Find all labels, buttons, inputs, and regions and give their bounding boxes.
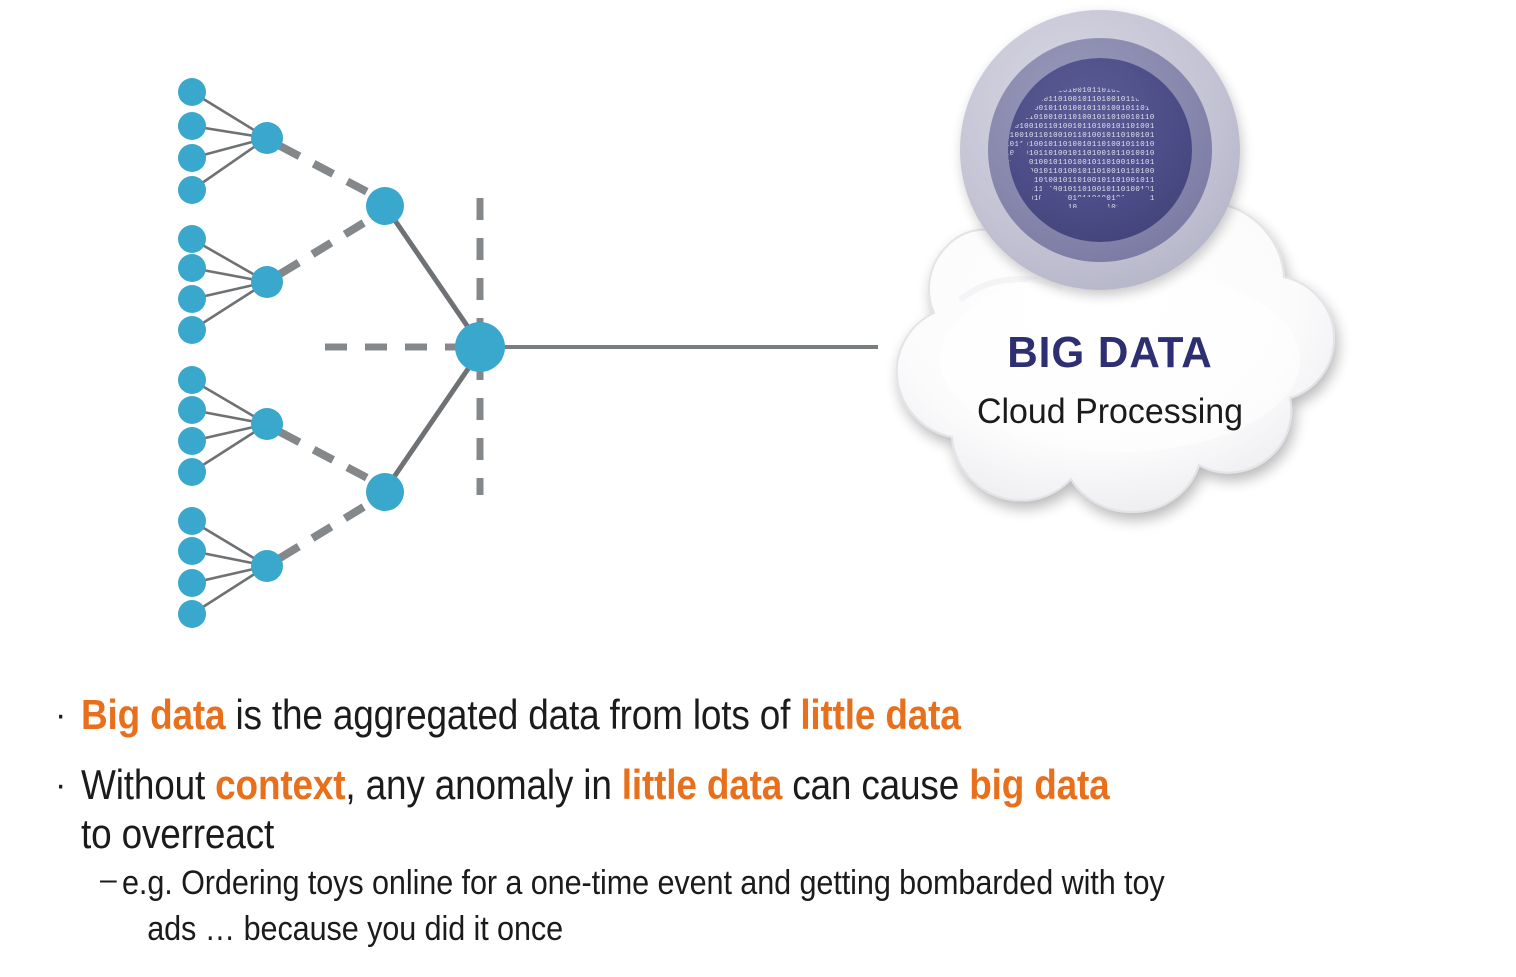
highlight-little-data: little data <box>800 691 960 738</box>
bullet-marker: · <box>55 760 81 808</box>
binary-elephant-icon: 01001010110010100101101001011010 1011010… <box>960 10 1240 290</box>
bullet-2-seg-without: Without <box>81 761 215 808</box>
leaf-node <box>178 396 206 424</box>
hub-node <box>455 322 505 372</box>
bullet-marker: · <box>55 690 81 738</box>
leaf-nodes <box>178 78 206 628</box>
leaf-node <box>178 112 206 140</box>
cloud-subtitle: Cloud Processing <box>906 392 1313 432</box>
bullet-2-seg-cause: can cause <box>782 761 969 808</box>
level2-node <box>251 122 283 154</box>
sub-bullet-line-2: ads … because you did it once <box>122 906 1165 952</box>
highlight-big-data: Big data <box>81 691 225 738</box>
bullet-2-text: Without context, any anomaly in little d… <box>81 760 1110 858</box>
leaf-node <box>178 427 206 455</box>
sub-bullet-text: e.g. Ordering toys online for a one-time… <box>122 860 1165 952</box>
leaf-node <box>178 78 206 106</box>
cloud-title: BIG DATA <box>908 328 1311 378</box>
bullet-item-1: · Big data is the aggregated data from l… <box>55 690 1081 739</box>
sub-bullet-item: – e.g. Ordering toys online for a one-ti… <box>100 860 1280 952</box>
leaf-node <box>178 366 206 394</box>
level3-node <box>366 187 404 225</box>
svg-text:011010010110100101101001011010: 01101001011010010110100101101001 <box>1000 123 1155 131</box>
diagram-illustration: 01001010110010100101101001011010 1011010… <box>0 0 1516 670</box>
leaf-node <box>178 316 206 344</box>
sub-bullet-marker: – <box>100 860 122 900</box>
bullet-item-2: · Without context, any anomaly in little… <box>55 760 1250 858</box>
leaf-node <box>178 569 206 597</box>
leaf-node <box>178 285 206 313</box>
leaf-node <box>178 254 206 282</box>
bullet-1-mid: is the aggregated data from lots of <box>225 691 800 738</box>
leaf-node <box>178 225 206 253</box>
highlight-big-data-2: big data <box>969 761 1109 808</box>
level2-node <box>251 266 283 298</box>
leaf-node <box>178 144 206 172</box>
level3-node <box>366 473 404 511</box>
sub-bullet-line-1: e.g. Ordering toys online for a one-time… <box>122 864 1165 902</box>
bullet-1-text: Big data is the aggregated data from lot… <box>81 690 961 739</box>
level2-node <box>251 550 283 582</box>
level2-nodes <box>251 122 283 582</box>
bullet-2-seg-anomaly: , any anomaly in <box>345 761 621 808</box>
highlight-little-data-2: little data <box>622 761 782 808</box>
leaf-node <box>178 507 206 535</box>
leaf-node <box>178 176 206 204</box>
bullet-list: · Big data is the aggregated data from l… <box>0 680 1516 977</box>
highlight-context: context <box>215 761 345 808</box>
svg-text:101001011010010110100101101001: 10100101101001011010010110100101 <box>1000 132 1155 140</box>
bullet-2-seg-overreact: to overreact <box>81 810 274 857</box>
leaf-node <box>178 458 206 486</box>
leaf-node <box>178 600 206 628</box>
leaf-node <box>178 537 206 565</box>
dashed-mid-edges <box>280 146 375 558</box>
level2-node <box>251 408 283 440</box>
